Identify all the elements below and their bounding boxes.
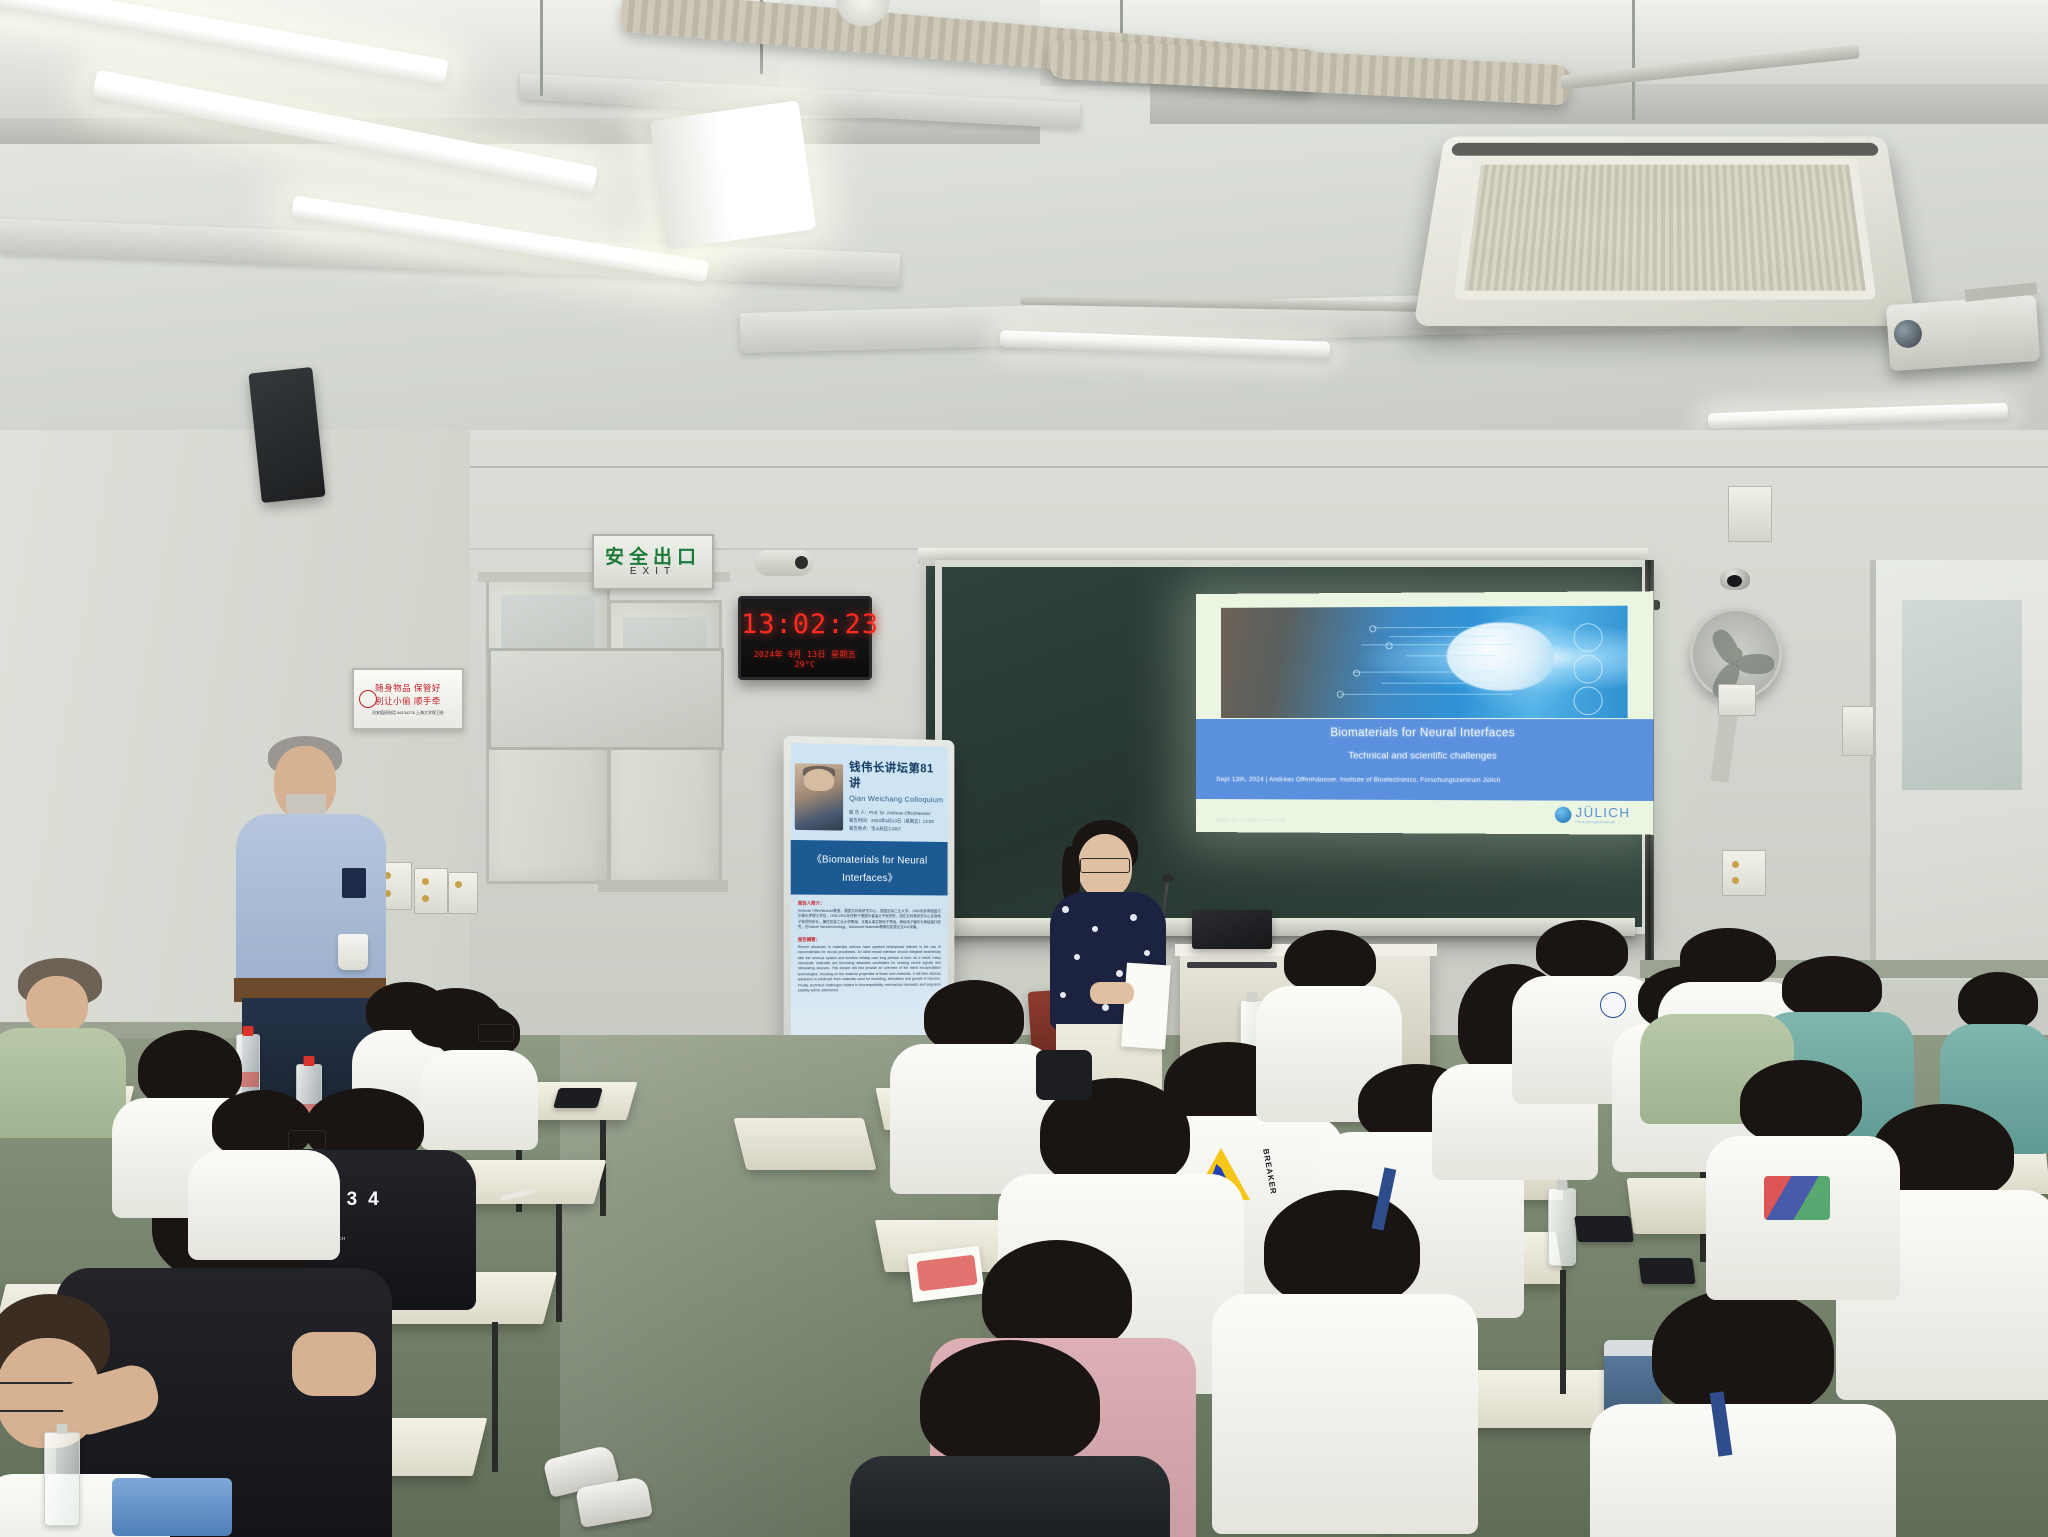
person-student — [188, 1090, 338, 1240]
smartphone[interactable] — [553, 1088, 603, 1108]
chair[interactable] — [734, 1118, 877, 1170]
dome-camera-icon — [1720, 568, 1750, 590]
ceiling-projector — [1886, 295, 2040, 371]
poster-english-title: Qian Weichang Colloquium — [849, 794, 944, 805]
poster-chinese-title: 钱伟长讲坛第81讲 — [849, 758, 944, 792]
backpack — [1036, 1050, 1092, 1100]
poster-header: 钱伟长讲坛第81讲 Qian Weichang Colloquium 报 告 人… — [791, 743, 948, 842]
clock-time: 13:02:23 — [741, 609, 869, 640]
wall-switch[interactable] — [1718, 684, 1756, 716]
projector-lens — [1893, 319, 1923, 349]
door-threshold — [598, 880, 728, 892]
notice-line-3: 治安值班电话 66134276 上海大学保卫处 — [357, 710, 459, 716]
blue-notebook — [112, 1478, 232, 1536]
transom-window — [488, 648, 724, 750]
caution-word-right: BREAKER — [1261, 1148, 1278, 1195]
glasses-icon — [288, 1130, 326, 1150]
exit-sign-chinese: 安全出口 — [605, 548, 701, 567]
anti-theft-notice-sign: 随身物品 保管好 别让小偷 顺手牵 治安值班电话 66134276 上海大学保卫… — [352, 668, 464, 730]
presentation-notes — [1121, 963, 1171, 1050]
person-student-foreground — [840, 1340, 1170, 1537]
poster-abstract-heading: 报告摘要： — [798, 937, 941, 943]
shirt-pocket — [342, 868, 366, 898]
slide-subtitle: Technical and scientific challenges — [1196, 750, 1654, 762]
paper-cup — [338, 934, 368, 970]
water-bottle — [1548, 1188, 1576, 1266]
smartphone[interactable] — [1638, 1258, 1695, 1284]
water-bottle — [44, 1432, 80, 1526]
slide-footnote: Mitglied der Helmholtz-Gemeinschaft — [1216, 818, 1285, 823]
shirt-print — [1764, 1176, 1830, 1220]
person-student-foreground — [1212, 1190, 1472, 1520]
exit-sign-english: EXIT — [630, 567, 676, 577]
ceiling-light — [650, 100, 817, 250]
poster-banner-text: 《Biomaterials for Neural Interfaces》 — [812, 854, 928, 884]
poster-info-place: 报告地点：宝山校区CJ007 — [849, 825, 944, 834]
glasses-icon — [478, 1024, 514, 1042]
exit-sign: 安全出口 EXIT — [592, 534, 714, 590]
junction-box — [1842, 706, 1874, 756]
hand — [1090, 982, 1134, 1004]
hand — [292, 1332, 376, 1396]
ceiling-light — [1708, 403, 2008, 429]
wall-speaker — [248, 367, 325, 503]
poster-bio-heading: 报告人简介： — [798, 901, 941, 908]
juelich-logo-subtext: Forschungszentrum — [1575, 821, 1630, 825]
ac-cassette-unit — [1413, 136, 1916, 326]
person-student — [0, 958, 120, 1128]
poster-banner: 《Biomaterials for Neural Interfaces》 — [791, 840, 948, 896]
smartphone[interactable] — [1574, 1216, 1634, 1242]
digital-wall-clock: 13:02:23 2024年 9月 13日 星期五 29°C — [738, 596, 872, 680]
person-student — [390, 988, 518, 1138]
slide-hero-image — [1221, 606, 1628, 718]
slide-meta-line: Sept 13th, 2024 | Andreas Offenhäusser, … — [1216, 776, 1637, 785]
power-socket[interactable] — [448, 872, 478, 914]
person-student — [1706, 1060, 1896, 1280]
projection-screen: Biomaterials for Neural Interfaces Techn… — [1196, 594, 1644, 832]
lecture-hall-photo: Biomaterials for Neural Interfaces Techn… — [0, 0, 2048, 1537]
window-pane — [1902, 600, 2022, 790]
juelich-logo: JÜLICH Forschungszentrum — [1555, 805, 1631, 825]
poster-bio-text: Andreas Offenhäusser教授，德国尤利希研究中心，德国亚琛工业大… — [798, 909, 941, 931]
speaker-portrait — [795, 763, 843, 830]
glasses-icon — [1080, 858, 1130, 873]
slide-title: Biomaterials for Neural Interfaces — [1196, 727, 1654, 740]
power-socket[interactable] — [1722, 850, 1766, 896]
wall-camera — [755, 550, 813, 576]
juelich-mark-icon — [1555, 807, 1572, 823]
junction-box — [1728, 486, 1772, 542]
stamp-icon — [359, 690, 377, 708]
clock-date: 2024年 9月 13日 星期五 29°C — [741, 649, 869, 669]
power-socket[interactable] — [414, 868, 448, 914]
juelich-logo-text: JÜLICH — [1575, 805, 1630, 821]
presentation-slide: Biomaterials for Neural Interfaces Techn… — [1196, 591, 1654, 835]
